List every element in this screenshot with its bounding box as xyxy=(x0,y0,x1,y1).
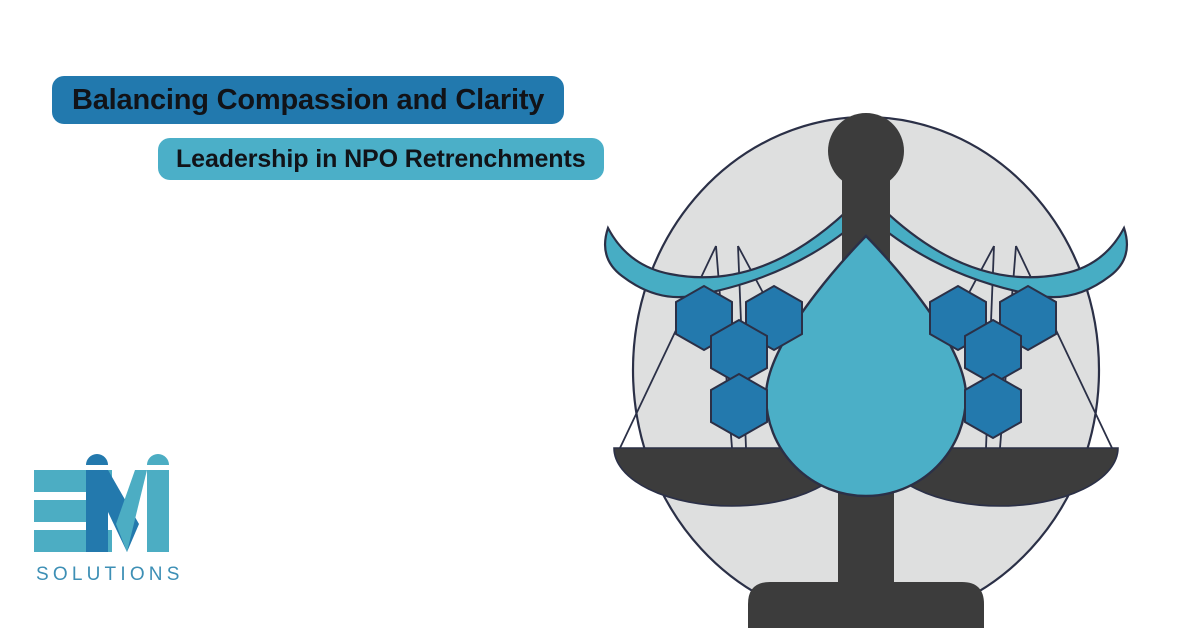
logo-wordmark: SOLUTIONS xyxy=(36,564,184,586)
poster-canvas: Balancing Compassion and Clarity Leaders… xyxy=(0,0,1200,628)
logo-person-left-head xyxy=(86,454,108,465)
balance-scale-illustration xyxy=(596,108,1136,628)
title-secondary-bar: Leadership in NPO Retrenchments xyxy=(158,138,604,180)
logo-mark-icon xyxy=(34,452,194,557)
logo-person-left-body xyxy=(86,470,108,552)
brand-logo: SOLUTIONS xyxy=(34,452,206,602)
logo-person-right-body xyxy=(147,470,169,552)
logo-person-right-head xyxy=(147,454,169,465)
title-primary-bar: Balancing Compassion and Clarity xyxy=(52,76,564,124)
